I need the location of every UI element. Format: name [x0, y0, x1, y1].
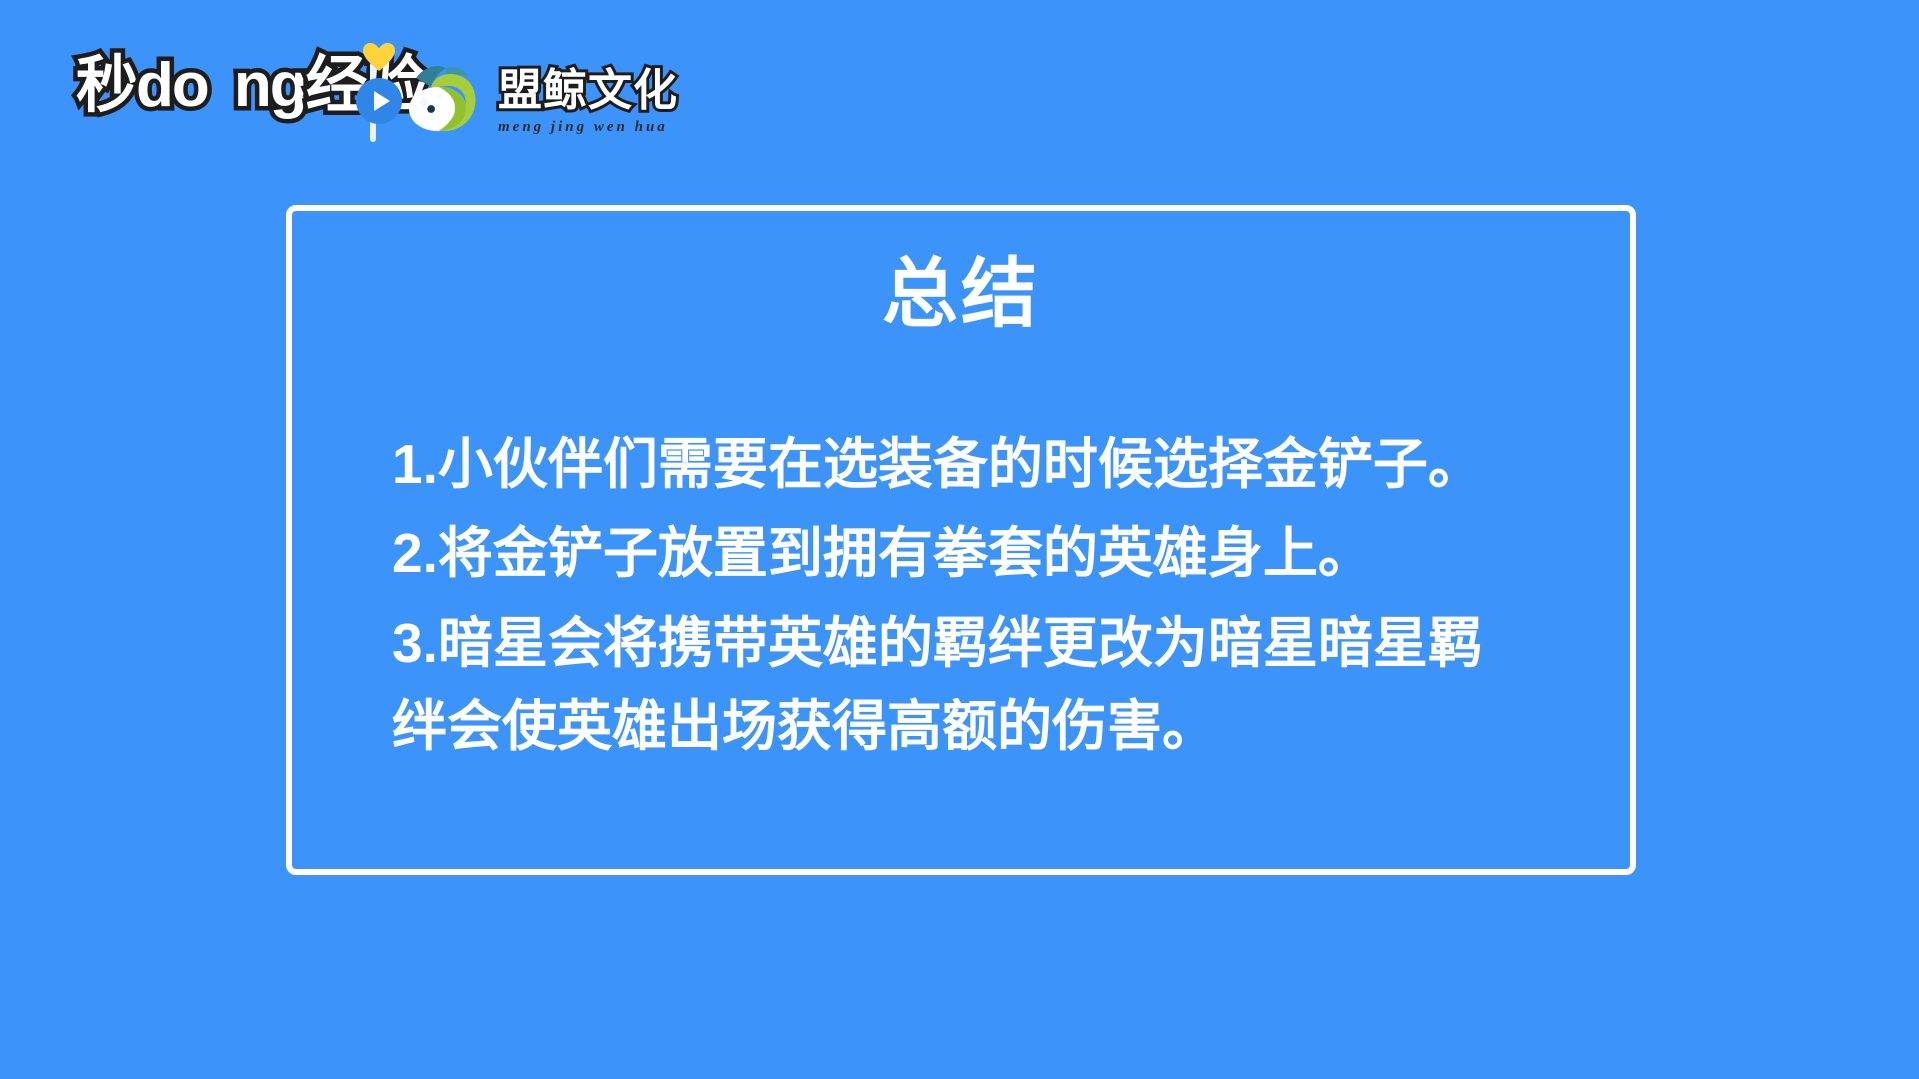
logo-text-miao: 秒 — [76, 55, 136, 117]
list-item: 1.小伙伴们需要在选装备的时候选择金铲子。 — [392, 423, 1534, 507]
summary-list: 1.小伙伴们需要在选装备的时候选择金铲子。 2.将金铲子放置到拥有拳套的英雄身上… — [292, 423, 1630, 769]
logo-text-d: d — [136, 55, 172, 117]
list-item: 3.暗星会将携带英雄的羁绊更改为暗星暗星羁绊会使英雄出场获得高额的伤害。 — [392, 602, 1534, 769]
whale-icon — [398, 52, 490, 144]
logo-text-ng: ng — [234, 55, 306, 117]
play-button-icon — [356, 78, 402, 124]
heart-icon — [362, 42, 396, 72]
logo-text-o: o — [172, 55, 234, 117]
brand-text-block: 盟鲸文化 meng jing wen hua — [498, 69, 678, 136]
slide-header: 秒dong经验 盟鲸文化 — [0, 0, 1919, 200]
brand-name-pinyin: meng jing wen hua — [498, 119, 678, 136]
summary-card: 总结 1.小伙伴们需要在选装备的时候选择金铲子。 2.将金铲子放置到拥有拳套的英… — [286, 205, 1636, 875]
list-item: 2.将金铲子放置到拥有拳套的英雄身上。 — [392, 512, 1534, 596]
page-title: 总结 — [292, 211, 1630, 337]
mengjing-wenhua-logo: 盟鲸文化 meng jing wen hua — [398, 52, 678, 144]
brand-name-cn: 盟鲸文化 — [498, 69, 678, 113]
